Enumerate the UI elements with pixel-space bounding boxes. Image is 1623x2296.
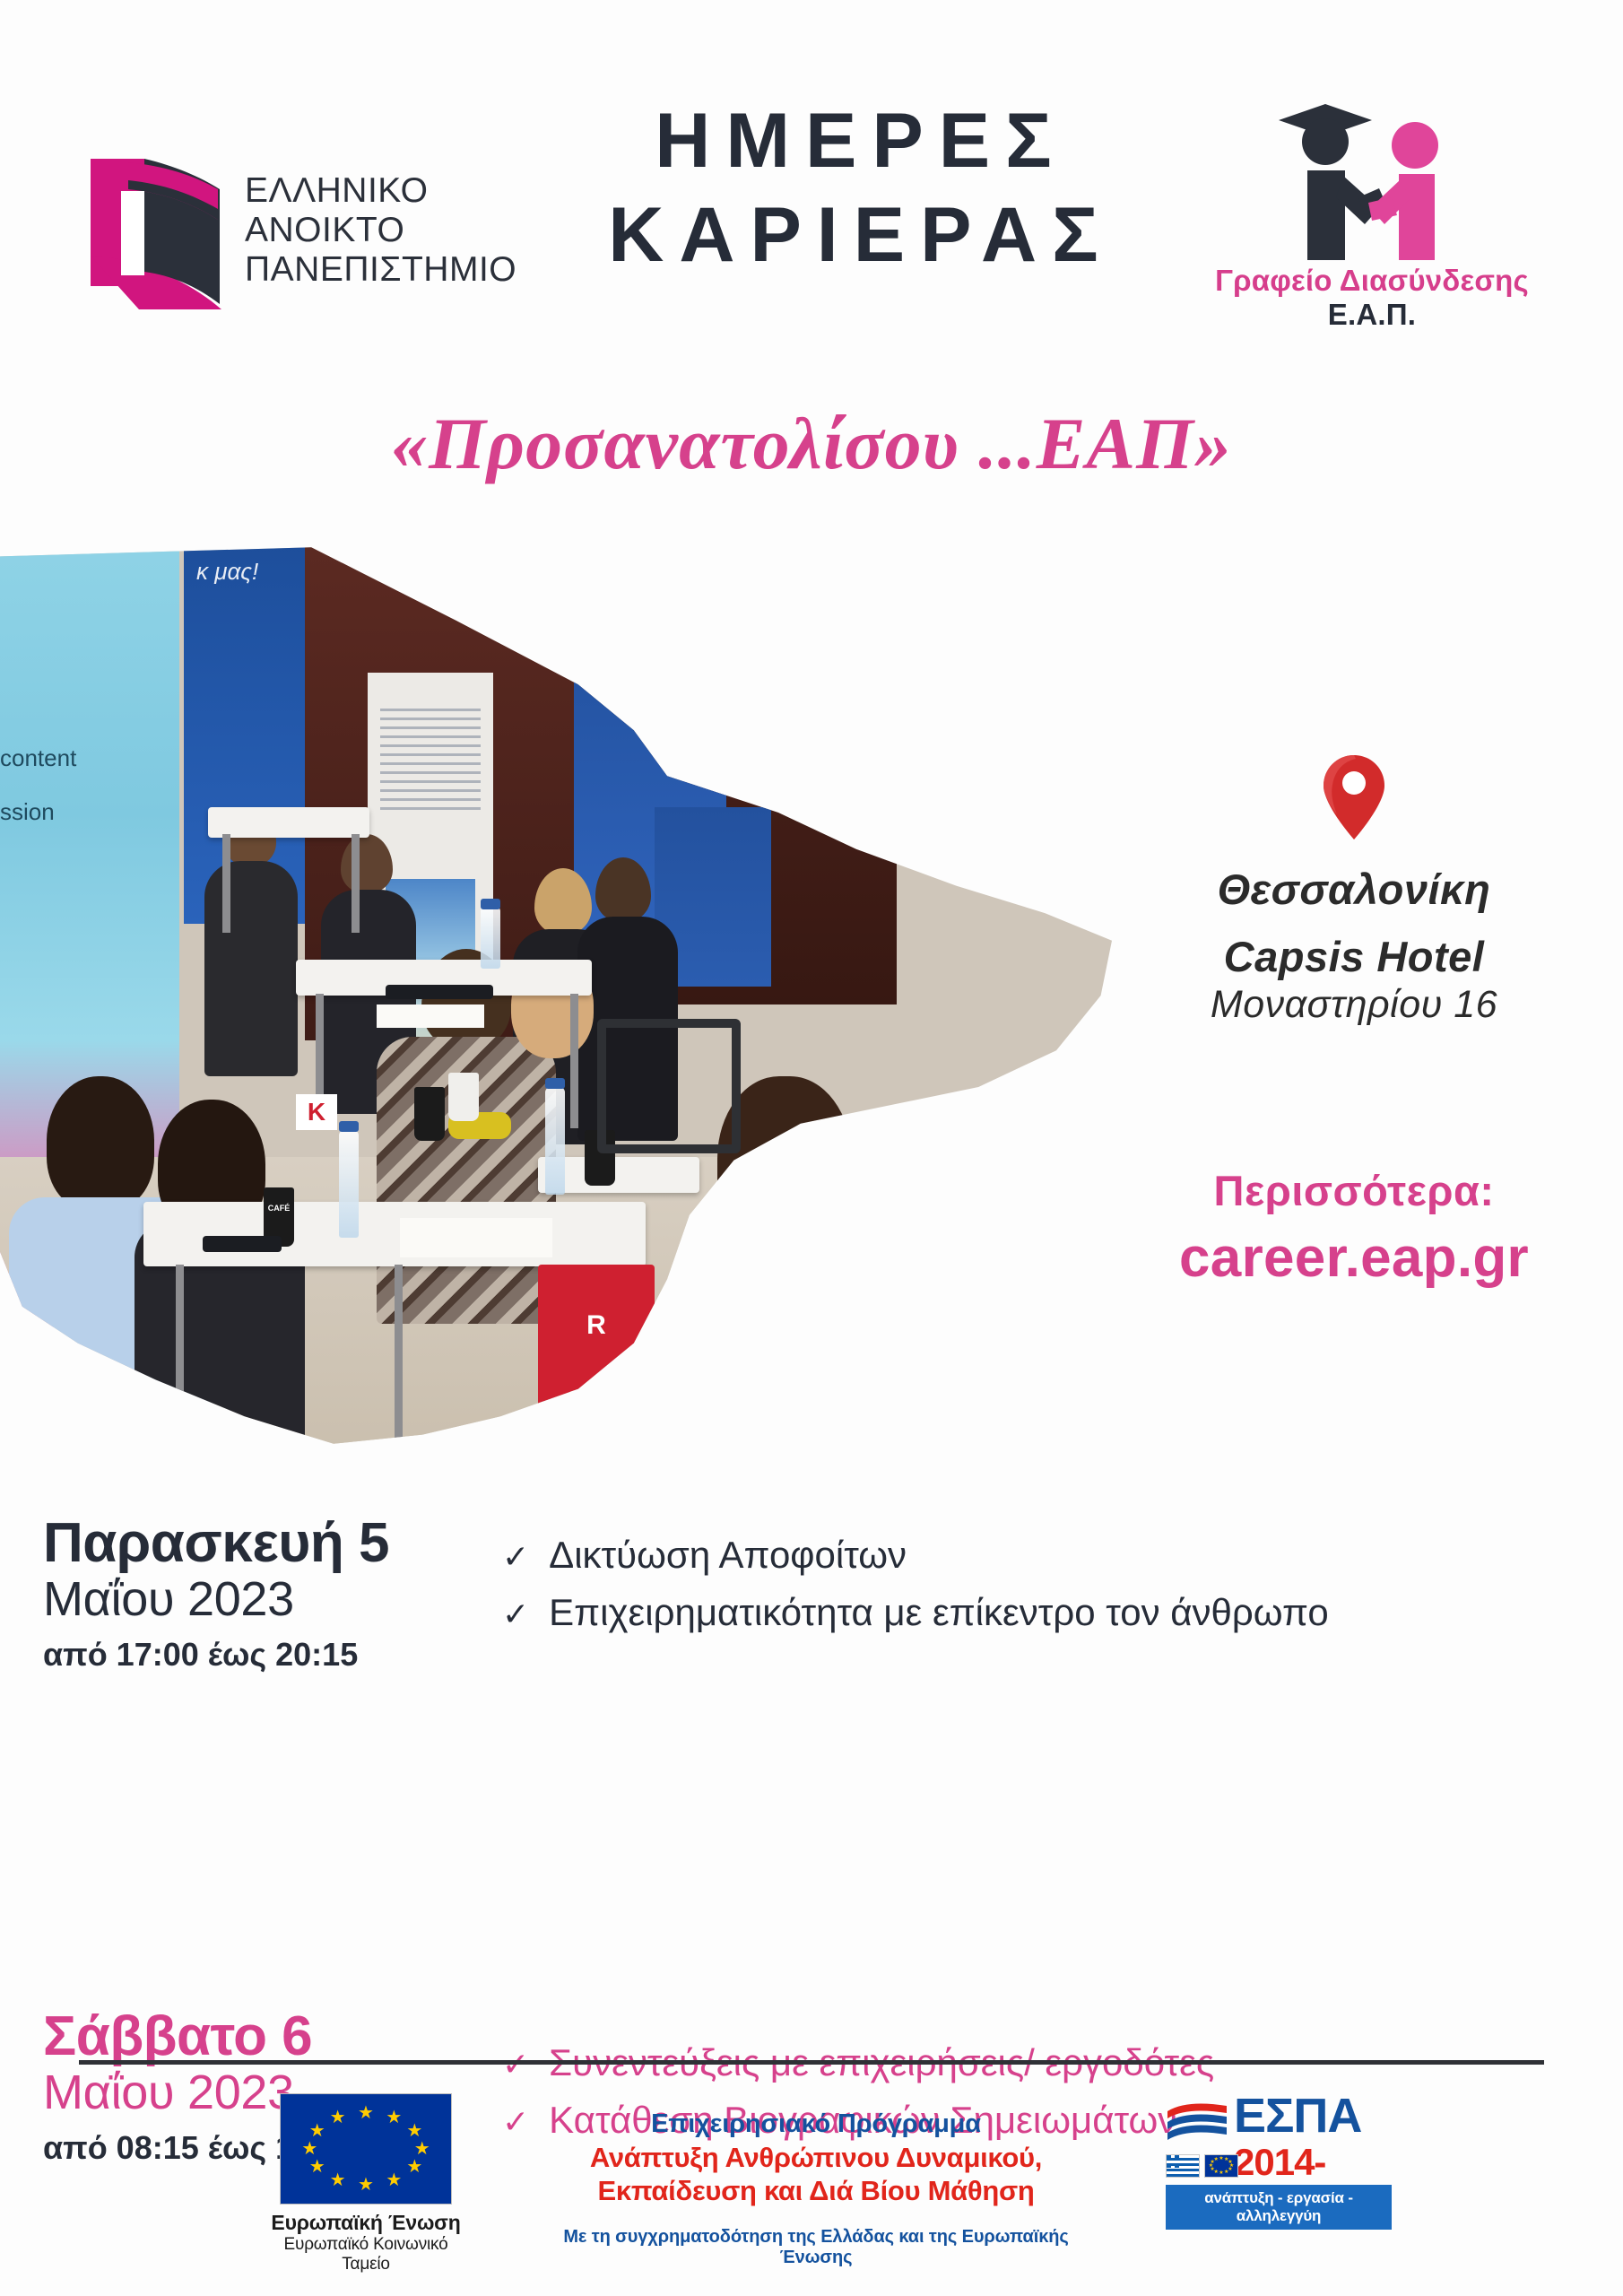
photo-person-body [681,1238,933,1453]
greek-flag-icon [1166,2154,1200,2178]
career-office-label-1: Γραφείο Διασύνδεσης [1184,264,1560,298]
eu-flag-star: ★ [358,2176,374,2194]
photo-brand-label: K [592,1417,633,1453]
check-icon: ✓ [502,1590,529,1639]
eu-flag-star: ★ [386,2171,402,2189]
page-title: ΗΜΕΡΕΣ ΚΑΡΙΕΡΑΣ [520,94,1202,283]
espa-logo-top: ΕΣΠΑ 2014-2020 [1166,2095,1399,2151]
eu-flag-star: ★ [1219,2156,1223,2161]
university-logo-line-3: ΠΑΝΕΠΙΣΤΗΜΙΟ [245,250,516,290]
friday-month-year: Μαΐου 2023 [43,1571,545,1629]
more-info-block: Περισσότερα: career.eap.gr [1139,1166,1569,1290]
eu-flag-star: ★ [309,2122,325,2140]
greek-flag-stripe [1167,2158,1199,2161]
photo-bag-label: R [586,1310,606,1341]
poster-canvas: ΕΛΛΗΝΙΚΟ ΑΝΟΙΚΤΟ ΠΑΝΕΠΙΣΤΗΜΙΟ ΗΜΕΡΕΣ ΚΑΡ… [0,0,1623,2296]
university-logo-line-2: ΑΝΟΙΚΤΟ [245,211,516,250]
career-fair-photo-clip: κ μας! [0,538,1112,1453]
photo-scene: κ μας! [0,538,1112,1453]
programme-line-3: Εκπαίδευση και Διά Βίου Μάθηση [538,2175,1094,2207]
photo-bottle-cap [339,1121,359,1132]
programme-line-2: Ανάπτυξη Ανθρώπινου Δυναμικού, [538,2142,1094,2174]
photo-person-body [204,861,298,1076]
eu-flag-star: ★ [358,2104,374,2122]
photo-bottle-cap [545,1078,565,1089]
programme-cofunding-note: Με τη συγχρηματοδότηση της Ελλάδας και τ… [538,2227,1094,2268]
photo-coffee-cup [414,1087,445,1141]
photo-table-leg [222,834,230,933]
location-city: Θεσσαλονίκη [1157,865,1551,914]
photo-red-bag: R [538,1265,655,1417]
espa-logo: ΕΣΠΑ 2014-2020 ★★★★★★★★★★★★ ανάπτυξη - ε… [1166,2095,1399,2151]
eu-flag-star: ★ [330,2171,346,2189]
photo-phone [386,985,493,999]
photo-table-leg [352,834,360,933]
university-logo: ΕΛΛΗΝΙΚΟ ΑΝΟΙΚΤΟ ΠΑΝΕΠΙΣΤΗΜΙΟ [85,145,516,316]
greek-flag-stripe [1167,2163,1199,2166]
photo-table [143,1202,646,1266]
schedule-day-friday: Παρασκευή 5 Μαΐου 2023 από 17:00 έως 20:… [0,1516,1623,1749]
list-item: ✓ Δικτύωση Αποφοίτων [502,1526,1329,1584]
friday-day-name: Παρασκευή 5 [43,1516,545,1571]
espa-waves-icon [1166,2100,1228,2147]
location-street: Μοναστηρίου 16 [1157,983,1551,1027]
friday-hours: από 17:00 έως 20:15 [43,1636,545,1674]
photo-water-bottle [545,1087,565,1195]
photo-paper-cup [448,1073,479,1121]
friday-date-block: Παρασκευή 5 Μαΐου 2023 από 17:00 έως 20:… [43,1516,545,1674]
european-union-flag-icon: ★★★★★★★★★★★★ [280,2093,452,2205]
schedule-section: Παρασκευή 5 Μαΐου 2023 από 17:00 έως 20:… [0,1516,1623,1964]
photo-chair [771,1381,933,1453]
career-fair-photo: κ μας! [0,538,1112,1453]
eu-flag-star: ★ [309,2158,325,2176]
location-venue: Capsis Hotel [1157,932,1551,981]
map-pin-icon [1322,753,1386,841]
programme-line-1: Επιχειρησιακό Πρόγραμμα [538,2109,1094,2139]
photo-brand-letter: K [308,1098,325,1126]
greek-flag-stripe [1167,2174,1199,2177]
photo-booth-text-3: ssion [0,798,179,826]
photo-cup-label: CAFÉ [266,1204,291,1216]
eu-flag-icon: ★★★★★★★★★★★★ [1204,2154,1238,2178]
handshake-graduate-logo-icon [1264,90,1480,260]
friday-activity-2: Επιχειρηματικότητα με επίκεντρο τον άνθρ… [549,1584,1329,1641]
photo-table [208,807,369,838]
location-block: Θεσσαλονίκη Capsis Hotel Μοναστηρίου 16 [1157,753,1551,1027]
photo-papers [377,1004,484,1028]
eu-flag-star: ★ [330,2109,346,2126]
page-title-line-2: ΚΑΡΙΕΡΑΣ [520,188,1202,283]
espa-flags: ★★★★★★★★★★★★ [1166,2154,1238,2178]
page-title-line-1: ΗΜΕΡΕΣ [655,98,1066,184]
check-icon: ✓ [502,1533,529,1582]
espa-wordmark: ΕΣΠΑ [1234,2092,1361,2140]
photo-brand-label: K [296,1094,337,1130]
eu-label-2: Ευρωπαϊκό Κοινωνικό Ταμείο [263,2235,469,2274]
eu-funding-block: ★★★★★★★★★★★★ Ευρωπαϊκή Ένωση Ευρωπαϊκό Κ… [263,2093,469,2274]
poster-footer: ★★★★★★★★★★★★ Ευρωπαϊκή Ένωση Ευρωπαϊκό Κ… [0,2079,1623,2285]
greek-flag-stripe [1167,2169,1199,2171]
saturday-day-name: Σάββατο 6 [43,2009,545,2065]
poster-header: ΕΛΛΗΝΙΚΟ ΑΝΟΙΚΤΟ ΠΑΝΕΠΙΣΤΗΜΙΟ ΗΜΕΡΕΣ ΚΑΡ… [0,0,1623,404]
eu-flag-star: ★ [1224,2170,1228,2175]
photo-table-leg [570,994,578,1128]
eu-flag-star: ★ [301,2140,317,2158]
photo-backdrop-left-top [0,538,179,1040]
footer-divider [79,2060,1544,2065]
open-book-logo-icon [85,150,229,311]
photo-bottle-cap [481,899,500,909]
photo-papers [400,1218,552,1257]
website-url[interactable]: career.eap.gr [1139,1226,1569,1290]
photo-table-leg [176,1265,184,1453]
career-office-logo: Γραφείο Διασύνδεσης Ε.Α.Π. [1184,90,1560,332]
photo-person-head [47,1076,154,1211]
eu-flag-star: ★ [406,2122,422,2140]
photo-booth-text-1: κ μας! [196,558,258,586]
more-info-label: Περισσότερα: [1139,1166,1569,1215]
eu-flag-star: ★ [1219,2170,1223,2176]
photo-booth-text-2: content [0,744,179,772]
photo-water-bottle [339,1130,359,1238]
operational-programme-block: Επιχειρησιακό Πρόγραμμα Ανάπτυξη Ανθρώπι… [538,2109,1094,2268]
photo-table-leg [395,1265,403,1444]
friday-activity-1: Δικτύωση Αποφοίτων [549,1526,907,1584]
eu-label-1: Ευρωπαϊκή Ένωση [263,2211,469,2235]
schedule-day-saturday: Σάββατο 6 Μαΐου 2023 από 08:15 έως 14:00… [0,1749,1623,1964]
eu-flag-star: ★ [406,2158,422,2176]
university-logo-wordmark: ΕΛΛΗΝΙΚΟ ΑΝΟΙΚΤΟ ΠΑΝΕΠΙΣΤΗΜΙΟ [245,171,516,289]
photo-water-bottle [481,906,500,969]
photo-chair [597,1019,741,1153]
photo-brand-letter: K [603,1421,621,1449]
photo-phone [203,1236,282,1252]
friday-activities: ✓ Δικτύωση Αποφοίτων ✓ Επιχειρηματικότητ… [502,1526,1329,1641]
eu-flag-star: ★ [1214,2157,1219,2162]
list-item: ✓ Επιχειρηματικότητα με επίκεντρο τον άν… [502,1584,1329,1641]
photo-panel-lines [380,709,481,816]
eu-flag-star: ★ [386,2109,402,2126]
eu-flag-star: ★ [414,2140,430,2158]
espa-tagline: ανάπτυξη - εργασία - αλληλεγγύη [1166,2185,1392,2230]
career-office-label-2: Ε.Α.Π. [1184,298,1560,332]
university-logo-line-1: ΕΛΛΗΝΙΚΟ [245,171,516,211]
poster-subtitle: «Προσανατολίσου ...ΕΑΠ» [0,402,1623,486]
